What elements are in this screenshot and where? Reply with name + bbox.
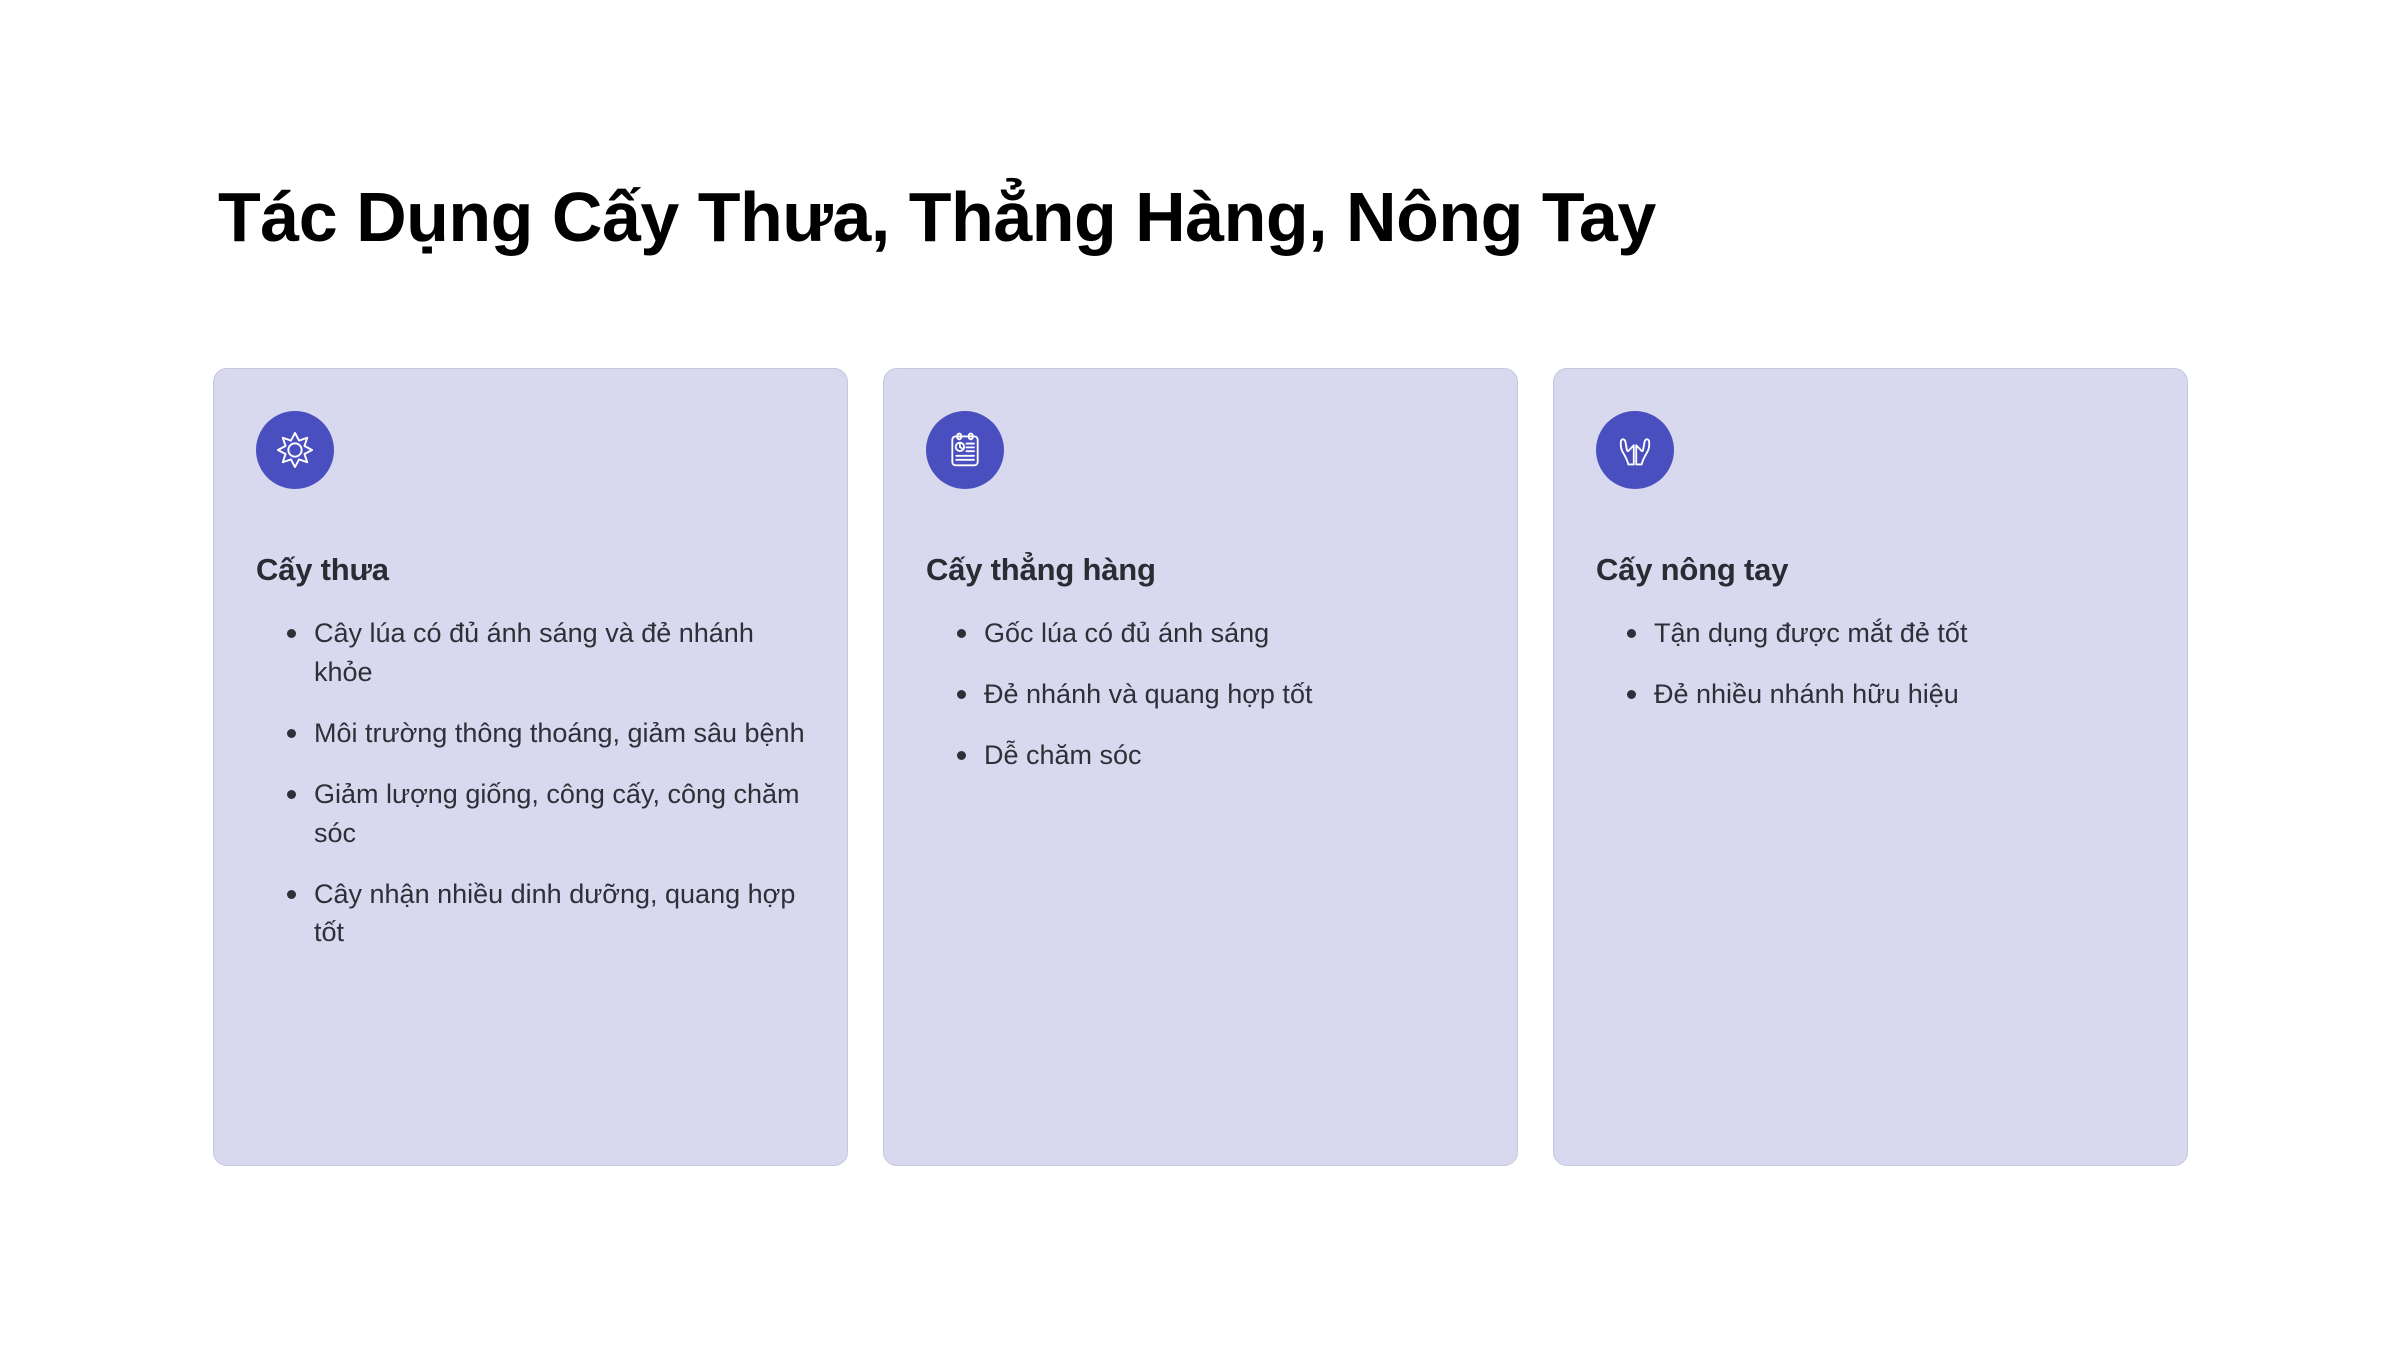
list-item: Đẻ nhiều nhánh hữu hiệu <box>1596 675 2147 714</box>
open-hands-icon <box>1596 411 1674 489</box>
card-benefit-list: Cây lúa có đủ ánh sáng và đẻ nhánh khỏe … <box>256 614 807 952</box>
card-cay-thang-hang: Cấy thẳng hàng Gốc lúa có đủ ánh sáng Đẻ… <box>883 368 1518 1166</box>
list-item: Gốc lúa có đủ ánh sáng <box>926 614 1477 653</box>
card-cay-thua: Cấy thưa Cây lúa có đủ ánh sáng và đẻ nh… <box>213 368 848 1166</box>
list-item: Đẻ nhánh và quang hợp tốt <box>926 675 1477 714</box>
card-heading: Cấy nông tay <box>1596 551 2147 588</box>
cards-row: Cấy thưa Cây lúa có đủ ánh sáng và đẻ nh… <box>213 368 2188 1166</box>
list-item: Tận dụng được mắt đẻ tốt <box>1596 614 2147 653</box>
card-benefit-list: Tận dụng được mắt đẻ tốt Đẻ nhiều nhánh … <box>1596 614 2147 714</box>
clipboard-clock-icon <box>926 411 1004 489</box>
card-benefit-list: Gốc lúa có đủ ánh sáng Đẻ nhánh và quang… <box>926 614 1477 775</box>
list-item: Cây lúa có đủ ánh sáng và đẻ nhánh khỏe <box>256 614 807 692</box>
list-item: Cây nhận nhiều dinh dưỡng, quang hợp tốt <box>256 875 807 953</box>
list-item: Dễ chăm sóc <box>926 736 1477 775</box>
slide-root: Tác Dụng Cấy Thưa, Thẳng Hàng, Nông Tay … <box>0 0 2400 1350</box>
card-heading: Cấy thưa <box>256 551 807 588</box>
card-heading: Cấy thẳng hàng <box>926 551 1477 588</box>
sun-icon <box>256 411 334 489</box>
page-title: Tác Dụng Cấy Thưa, Thẳng Hàng, Nông Tay <box>218 178 2218 256</box>
card-cay-nong-tay: Cấy nông tay Tận dụng được mắt đẻ tốt Đẻ… <box>1553 368 2188 1166</box>
list-item: Môi trường thông thoáng, giảm sâu bệnh <box>256 714 807 753</box>
list-item: Giảm lượng giống, công cấy, công chăm só… <box>256 775 807 853</box>
